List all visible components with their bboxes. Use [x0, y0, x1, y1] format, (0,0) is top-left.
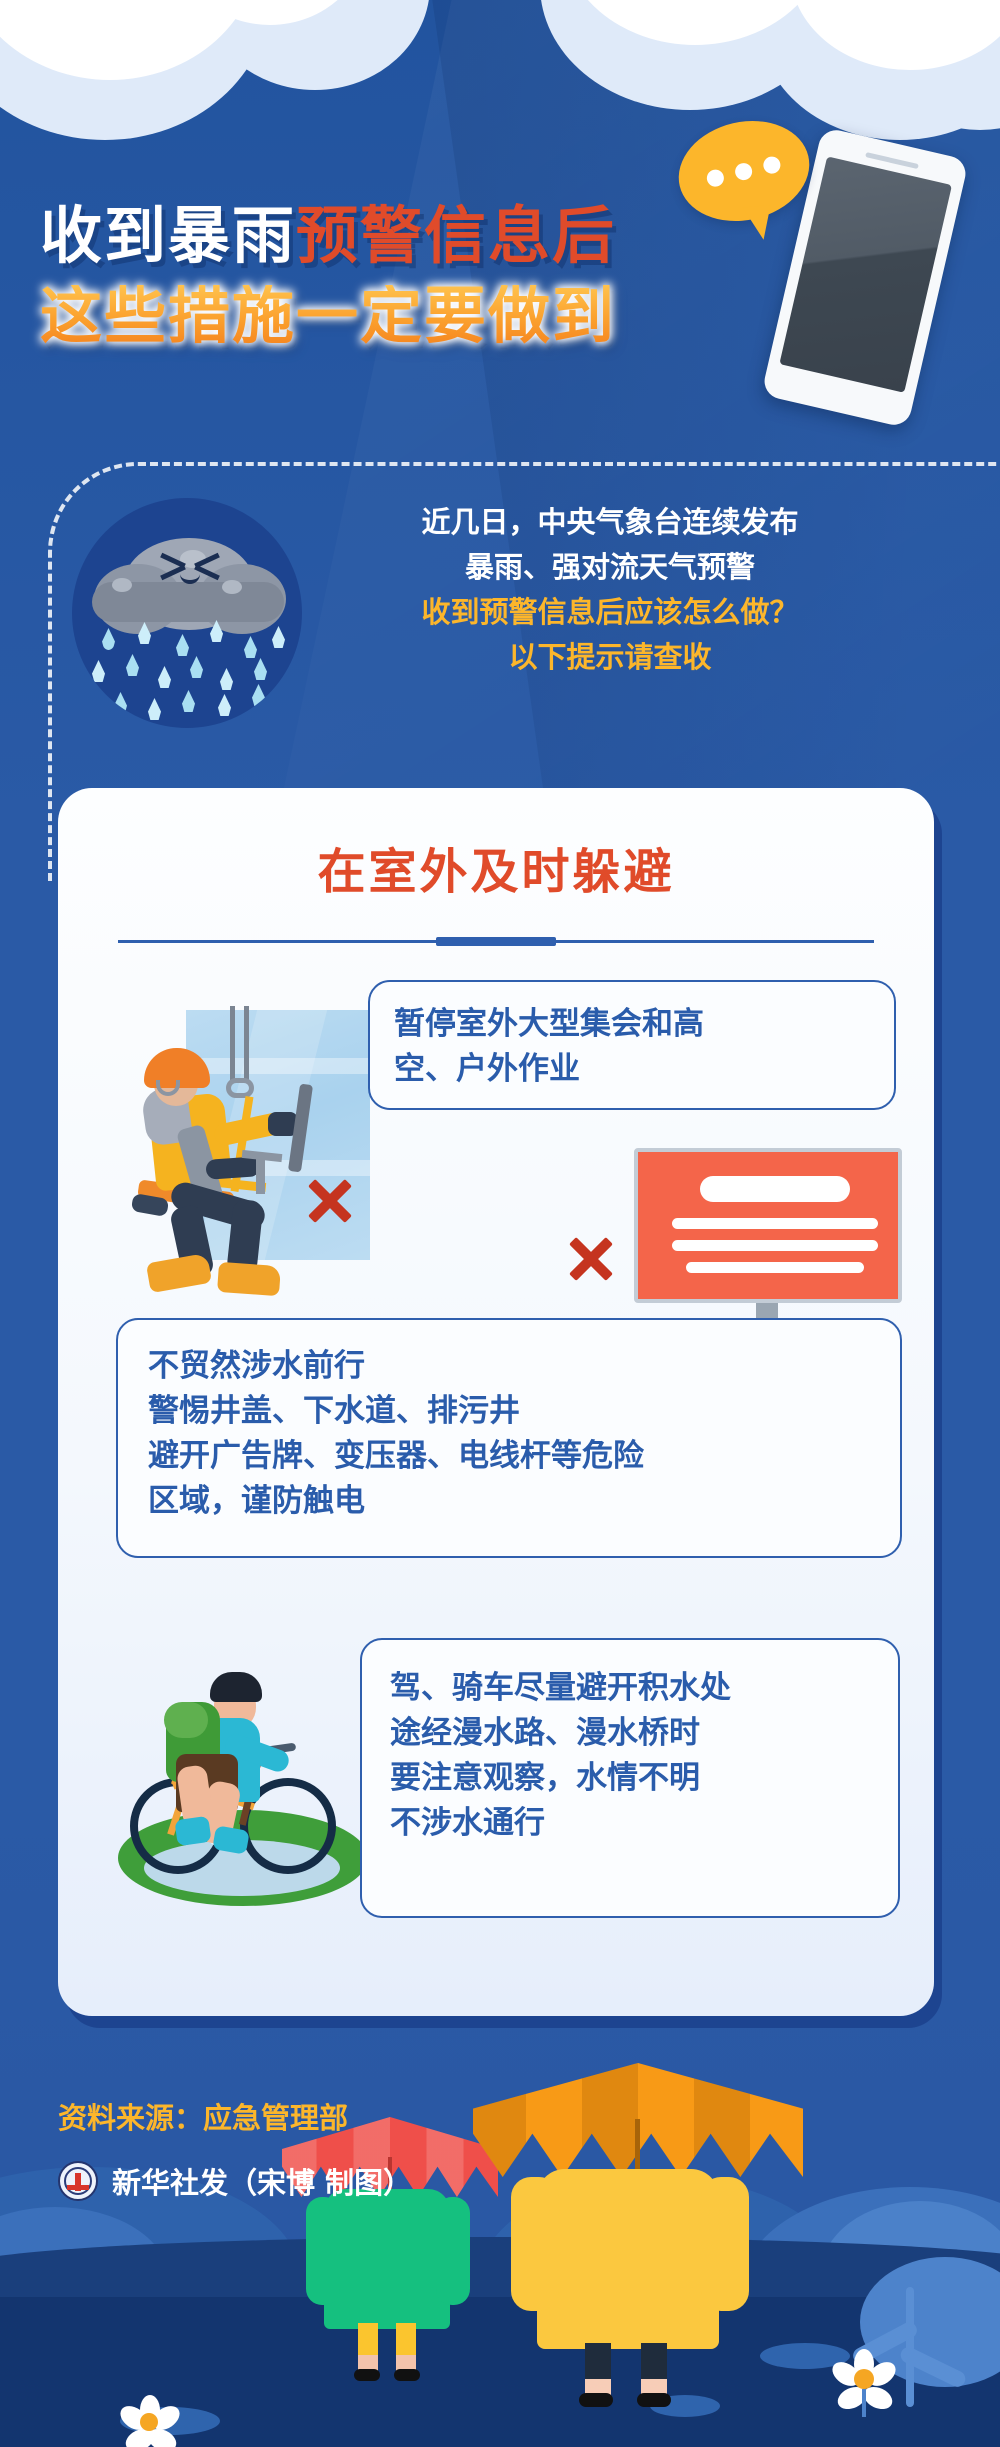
intro-line-3: 收到预警信息后应该怎么做？	[330, 590, 890, 635]
card3-line-4: 不涉水通行	[390, 1801, 870, 1846]
daisy-icon	[830, 2347, 900, 2417]
card3-line-1: 驾、骑车尽量避开积水处	[390, 1666, 870, 1711]
title-line-2: 这些措施一定要做到	[40, 285, 840, 347]
card2-line-1: 不贸然涉水前行	[148, 1344, 870, 1389]
title-line-1: 收到暴雨预警信息后	[40, 205, 840, 267]
card3-line-2: 途经漫水路、漫水桥时	[390, 1711, 870, 1756]
xinhua-logo-icon	[58, 2161, 98, 2201]
card2-line-4: 区域，谨防触电	[148, 1479, 870, 1524]
person-green-coat-red-umbrella-icon	[300, 2097, 480, 2377]
section-title: 在室外及时躲避	[58, 832, 934, 902]
info-card-wading: 不贸然涉水前行 警惕井盖、下水道、排污井 避开广告牌、变压器、电线杆等危险 区域…	[116, 1318, 902, 1558]
intro-line-4: 以下提示请查收	[330, 635, 890, 680]
page-title: 收到暴雨预警信息后 这些措施一定要做到	[40, 205, 840, 347]
section-divider	[118, 940, 874, 943]
card1-line-1: 暂停室外大型集会和高	[394, 1002, 870, 1047]
card2-line-3: 避开广告牌、变压器、电线杆等危险	[148, 1434, 870, 1479]
red-x-icon-2	[568, 1236, 614, 1282]
intro-line-1: 近几日，中央气象台连续发布	[330, 500, 890, 545]
daisy-icon-2	[120, 2393, 180, 2447]
angry-rain-cloud-icon	[72, 498, 302, 728]
info-card-driving: 驾、骑车尽量避开积水处 途经漫水路、漫水桥时 要注意观察，水情不明 不涉水通行	[360, 1638, 900, 1918]
infographic-poster: 收到暴雨预警信息后 这些措施一定要做到	[0, 0, 1000, 2447]
source-label: 资料来源：应急管理部	[58, 2095, 348, 2137]
card2-line-2: 警惕井盖、下水道、排污井	[148, 1389, 870, 1434]
info-card-outdoor-events: 暂停室外大型集会和高 空、户外作业	[368, 980, 896, 1110]
window-cleaner-icon	[118, 1000, 386, 1290]
title-line-1-red: 预警信息后	[296, 199, 616, 272]
intro-text-block: 近几日，中央气象台连续发布 暴雨、强对流天气预警 收到预警信息后应该怎么做？ 以…	[330, 500, 890, 680]
card1-line-2: 空、户外作业	[394, 1047, 870, 1092]
intro-line-2: 暴雨、强对流天气预警	[330, 545, 890, 590]
person-yellow-coat-orange-umbrella-icon	[495, 2037, 795, 2407]
credit-label: 新华社发（宋博 制图）	[112, 2160, 412, 2202]
credit-row: 新华社发（宋博 制图）	[58, 2160, 412, 2202]
card3-line-3: 要注意观察，水情不明	[390, 1756, 870, 1801]
cyclist-icon	[118, 1650, 368, 1910]
title-line-1-white: 收到暴雨	[40, 199, 296, 272]
